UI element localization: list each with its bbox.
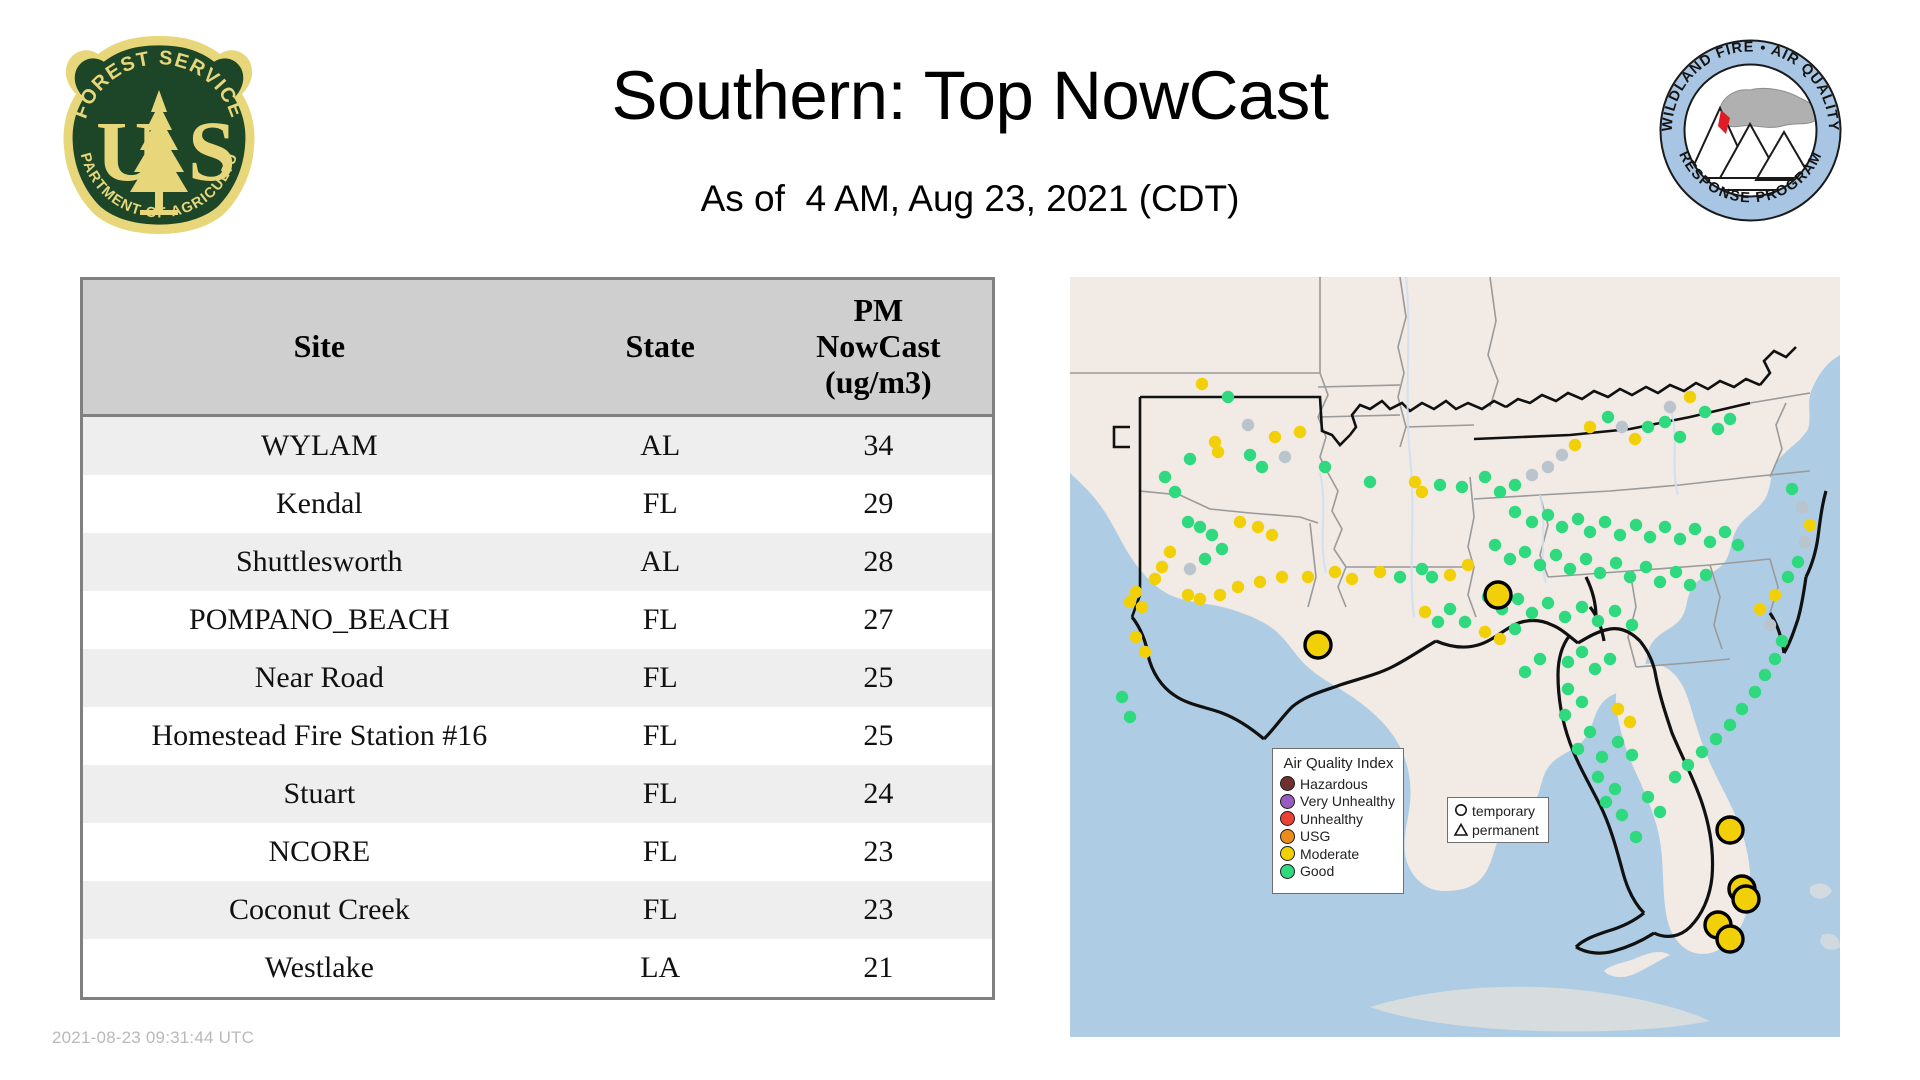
cell-site: Stuart bbox=[83, 765, 556, 823]
monitor-dot[interactable] bbox=[1749, 686, 1761, 698]
monitor-dot[interactable] bbox=[1764, 619, 1776, 631]
cell-pm-nowcast: 21 bbox=[765, 939, 992, 997]
monitor-dot[interactable] bbox=[1124, 711, 1136, 723]
cell-site: Shuttlesworth bbox=[83, 533, 556, 591]
monitor-dot[interactable] bbox=[1269, 431, 1281, 443]
monitor-dot[interactable] bbox=[1364, 476, 1376, 488]
monitor-dot[interactable] bbox=[1584, 421, 1596, 433]
aqi-legend-row: Unhealthy bbox=[1280, 810, 1397, 828]
cell-pm-nowcast: 29 bbox=[765, 475, 992, 533]
monitor-dot[interactable] bbox=[1769, 653, 1781, 665]
cell-state: FL bbox=[556, 591, 765, 649]
cell-pm-nowcast: 25 bbox=[765, 707, 992, 765]
aqi-legend-label: Good bbox=[1300, 864, 1334, 878]
monitor-dot[interactable] bbox=[1232, 581, 1244, 593]
monitor-dot[interactable] bbox=[1276, 571, 1288, 583]
monitor-dot[interactable] bbox=[1184, 563, 1196, 575]
cell-state: FL bbox=[556, 475, 765, 533]
monitor-dot[interactable] bbox=[1682, 759, 1694, 771]
monitor-dot[interactable] bbox=[1266, 529, 1278, 541]
monitor-dot[interactable] bbox=[1519, 546, 1531, 558]
monitor-dot[interactable] bbox=[1674, 431, 1686, 443]
cell-pm-nowcast: 24 bbox=[765, 765, 992, 823]
monitor-dot[interactable] bbox=[1644, 531, 1656, 543]
monitor-dot[interactable] bbox=[1206, 529, 1218, 541]
monitor-dot[interactable] bbox=[1659, 416, 1671, 428]
cell-site: NCORE bbox=[83, 823, 556, 881]
page-title: Southern: Top NowCast bbox=[430, 58, 1510, 134]
highlighted-site-marker[interactable]: Shuttlesworth bbox=[1485, 582, 1511, 608]
monitor-dot[interactable] bbox=[1214, 589, 1226, 601]
monitor-dot[interactable] bbox=[1419, 606, 1431, 618]
monitor-dot[interactable] bbox=[1252, 521, 1264, 533]
monitor-dot[interactable] bbox=[1256, 461, 1268, 473]
monitor-dot[interactable] bbox=[1576, 696, 1588, 708]
monitor-dot[interactable] bbox=[1704, 536, 1716, 548]
cell-pm-nowcast: 28 bbox=[765, 533, 992, 591]
aqi-legend-label: Moderate bbox=[1300, 847, 1359, 861]
table-row: Near RoadFL25 bbox=[83, 649, 992, 707]
monitor-dot[interactable] bbox=[1776, 635, 1788, 647]
cell-state: LA bbox=[556, 939, 765, 997]
monitor-dot[interactable] bbox=[1556, 521, 1568, 533]
nowcast-table: Site State PM NowCast (ug/m3) WYLAMAL34K… bbox=[80, 277, 995, 1000]
aqi-swatch-hazardous bbox=[1280, 776, 1295, 791]
site-type-legend: temporary permanent bbox=[1447, 797, 1549, 843]
monitor-dot[interactable] bbox=[1346, 573, 1358, 585]
aqi-legend: Air Quality Index HazardousVery Unhealth… bbox=[1272, 748, 1404, 894]
monitor-dot[interactable] bbox=[1302, 571, 1314, 583]
monitor-dot[interactable] bbox=[1670, 566, 1682, 578]
monitor-dot[interactable] bbox=[1612, 736, 1624, 748]
monitor-dot[interactable] bbox=[1559, 709, 1571, 721]
circle-outline-icon bbox=[1453, 803, 1469, 819]
monitor-dot[interactable] bbox=[1592, 771, 1604, 783]
monitor-dot[interactable] bbox=[1736, 703, 1748, 715]
monitor-dot[interactable] bbox=[1194, 593, 1206, 605]
aqi-swatch-very-unhealthy bbox=[1280, 794, 1295, 809]
aqi-legend-label: Hazardous bbox=[1300, 777, 1368, 791]
cell-state: FL bbox=[556, 881, 765, 939]
monitor-dot[interactable] bbox=[1534, 559, 1546, 571]
monitor-dot[interactable] bbox=[1642, 791, 1654, 803]
cell-site: Homestead Fire Station #16 bbox=[83, 707, 556, 765]
monitor-dot[interactable] bbox=[1602, 411, 1614, 423]
cell-state: FL bbox=[556, 765, 765, 823]
monitor-dot[interactable] bbox=[1642, 421, 1654, 433]
monitor-dot[interactable] bbox=[1164, 546, 1176, 558]
monitor-dot[interactable] bbox=[1489, 539, 1501, 551]
aqi-map[interactable]: ShuttlesworthWestlakeStuartCoconut Creek… bbox=[1070, 277, 1840, 1037]
aqi-legend-label: USG bbox=[1300, 829, 1330, 843]
monitor-dot[interactable] bbox=[1786, 483, 1798, 495]
monitor-dot[interactable] bbox=[1604, 653, 1616, 665]
monitor-dot[interactable] bbox=[1719, 526, 1731, 538]
monitor-dot[interactable] bbox=[1759, 669, 1771, 681]
highlighted-site-marker[interactable]: Stuart bbox=[1717, 817, 1743, 843]
monitor-dot[interactable] bbox=[1596, 751, 1608, 763]
monitor-dot[interactable] bbox=[1130, 631, 1142, 643]
monitor-dot[interactable] bbox=[1689, 523, 1701, 535]
monitor-dot[interactable] bbox=[1182, 589, 1194, 601]
aqi-legend-row: Good bbox=[1280, 863, 1397, 881]
monitor-dot[interactable] bbox=[1234, 516, 1246, 528]
monitor-dot[interactable] bbox=[1769, 589, 1781, 601]
monitor-dot[interactable] bbox=[1199, 553, 1211, 565]
column-header-state: State bbox=[556, 280, 765, 416]
aqi-legend-label: Very Unhealthy bbox=[1300, 794, 1395, 808]
monitor-dot[interactable] bbox=[1494, 486, 1506, 498]
monitor-dot[interactable] bbox=[1329, 566, 1341, 578]
monitor-dot[interactable] bbox=[1526, 607, 1538, 619]
aqi-legend-row: USG bbox=[1280, 828, 1397, 846]
cell-state: AL bbox=[556, 416, 765, 476]
monitor-dot[interactable] bbox=[1216, 543, 1228, 555]
monitor-dot[interactable] bbox=[1674, 533, 1686, 545]
monitor-dot[interactable] bbox=[1242, 419, 1254, 431]
monitor-dot[interactable] bbox=[1394, 571, 1406, 583]
monitor-dot[interactable] bbox=[1542, 597, 1554, 609]
table-row: Homestead Fire Station #16FL25 bbox=[83, 707, 992, 765]
monitor-dot[interactable] bbox=[1456, 481, 1468, 493]
monitor-dot[interactable] bbox=[1149, 573, 1161, 585]
highlighted-site-marker[interactable]: Homestead Fire Station #16 bbox=[1717, 926, 1743, 952]
monitor-dot[interactable] bbox=[1799, 536, 1811, 548]
monitor-dot[interactable] bbox=[1594, 567, 1606, 579]
monitor-dot[interactable] bbox=[1754, 603, 1766, 615]
monitor-dot[interactable] bbox=[1684, 579, 1696, 591]
column-header-pm-line1: PM bbox=[765, 292, 992, 328]
monitor-dot[interactable] bbox=[1710, 733, 1722, 745]
cell-pm-nowcast: 23 bbox=[765, 823, 992, 881]
monitor-dot[interactable] bbox=[1782, 571, 1794, 583]
monitor-dot[interactable] bbox=[1182, 516, 1194, 528]
monitor-dot[interactable] bbox=[1526, 469, 1538, 481]
monitor-dot[interactable] bbox=[1612, 703, 1624, 715]
monitor-dot[interactable] bbox=[1416, 486, 1428, 498]
monitor-dot[interactable] bbox=[1724, 719, 1736, 731]
monitor-dot[interactable] bbox=[1509, 479, 1521, 491]
monitor-dot[interactable] bbox=[1374, 566, 1386, 578]
monitor-dot[interactable] bbox=[1416, 563, 1428, 575]
monitor-dot[interactable] bbox=[1519, 666, 1531, 678]
footer-timestamp: 2021-08-23 09:31:44 UTC bbox=[52, 1028, 254, 1048]
table-row: POMPANO_BEACHFL27 bbox=[83, 591, 992, 649]
monitor-dot[interactable] bbox=[1592, 615, 1604, 627]
triangle-outline-icon bbox=[1453, 822, 1469, 838]
monitor-dot[interactable] bbox=[1712, 423, 1724, 435]
monitor-dot[interactable] bbox=[1669, 771, 1681, 783]
monitor-dot[interactable] bbox=[1616, 809, 1628, 821]
monitor-dot[interactable] bbox=[1796, 501, 1808, 513]
cell-site: Near Road bbox=[83, 649, 556, 707]
monitor-dot[interactable] bbox=[1630, 831, 1642, 843]
table-row: WYLAMAL34 bbox=[83, 416, 992, 476]
legend-row-temporary: temporary bbox=[1453, 801, 1544, 820]
monitor-dot[interactable] bbox=[1509, 623, 1521, 635]
column-header-pm-line3: (ug/m3) bbox=[765, 364, 992, 400]
aqi-legend-row: Hazardous bbox=[1280, 775, 1397, 793]
monitor-dot[interactable] bbox=[1569, 439, 1581, 451]
legend-row-permanent: permanent bbox=[1453, 820, 1544, 839]
legend-label-temporary: temporary bbox=[1472, 804, 1535, 818]
monitor-dot[interactable] bbox=[1610, 557, 1622, 569]
aqi-legend-row: Very Unhealthy bbox=[1280, 793, 1397, 811]
highlighted-site-marker[interactable]: Westlake bbox=[1305, 632, 1331, 658]
monitor-dot[interactable] bbox=[1616, 421, 1628, 433]
monitor-dot[interactable] bbox=[1212, 446, 1224, 458]
monitor-dot[interactable] bbox=[1139, 646, 1151, 658]
wfaqrp-logo: WILDLAND FIRE • AIR QUALITY RESPONSE PRO… bbox=[1658, 38, 1843, 223]
monitor-dot[interactable] bbox=[1444, 569, 1456, 581]
monitor-dot[interactable] bbox=[1254, 576, 1266, 588]
monitor-dot[interactable] bbox=[1494, 633, 1506, 645]
cell-site: WYLAM bbox=[83, 416, 556, 476]
monitor-dot[interactable] bbox=[1196, 378, 1208, 390]
cell-site: Westlake bbox=[83, 939, 556, 997]
monitor-dot[interactable] bbox=[1562, 656, 1574, 668]
monitor-dot[interactable] bbox=[1194, 521, 1206, 533]
cell-pm-nowcast: 23 bbox=[765, 881, 992, 939]
monitor-dot[interactable] bbox=[1614, 529, 1626, 541]
monitor-dot[interactable] bbox=[1804, 519, 1816, 531]
monitor-dot[interactable] bbox=[1550, 549, 1562, 561]
table-row: ShuttlesworthAL28 bbox=[83, 533, 992, 591]
monitor-dot[interactable] bbox=[1319, 461, 1331, 473]
monitor-dot[interactable] bbox=[1599, 516, 1611, 528]
monitor-dot[interactable] bbox=[1696, 746, 1708, 758]
monitor-dot[interactable] bbox=[1600, 796, 1612, 808]
aqi-swatch-moderate bbox=[1280, 846, 1295, 861]
monitor-dot[interactable] bbox=[1580, 553, 1592, 565]
monitor-dot[interactable] bbox=[1724, 413, 1736, 425]
page-subtitle: As of 4 AM, Aug 23, 2021 (CDT) bbox=[430, 178, 1510, 220]
cell-pm-nowcast: 34 bbox=[765, 416, 992, 476]
table-row: KendalFL29 bbox=[83, 475, 992, 533]
monitor-dot[interactable] bbox=[1659, 521, 1671, 533]
monitor-dot[interactable] bbox=[1504, 553, 1516, 565]
monitor-dot[interactable] bbox=[1479, 471, 1491, 483]
monitor-dot[interactable] bbox=[1159, 471, 1171, 483]
monitor-dot[interactable] bbox=[1116, 691, 1128, 703]
aqi-legend-row: Moderate bbox=[1280, 845, 1397, 863]
column-header-pm-line2: NowCast bbox=[765, 328, 992, 364]
monitor-dot[interactable] bbox=[1572, 513, 1584, 525]
monitor-dot[interactable] bbox=[1124, 596, 1136, 608]
aqi-legend-title: Air Quality Index bbox=[1280, 755, 1397, 772]
table-row: StuartFL24 bbox=[83, 765, 992, 823]
monitor-dot[interactable] bbox=[1654, 576, 1666, 588]
aqi-legend-label: Unhealthy bbox=[1300, 812, 1363, 826]
cell-site: POMPANO_BEACH bbox=[83, 591, 556, 649]
monitor-dot[interactable] bbox=[1626, 749, 1638, 761]
usfs-shield-logo: FOREST SERVICE DEPARTMENT OF AGRICULTURE… bbox=[52, 32, 267, 237]
monitor-dot[interactable] bbox=[1654, 806, 1666, 818]
cell-pm-nowcast: 27 bbox=[765, 591, 992, 649]
monitor-dot[interactable] bbox=[1559, 611, 1571, 623]
cell-state: AL bbox=[556, 533, 765, 591]
monitor-dot[interactable] bbox=[1792, 556, 1804, 568]
monitor-dot[interactable] bbox=[1564, 563, 1576, 575]
monitor-dot[interactable] bbox=[1409, 476, 1421, 488]
column-header-site: Site bbox=[83, 280, 556, 416]
monitor-dot[interactable] bbox=[1640, 561, 1652, 573]
cell-state: FL bbox=[556, 823, 765, 881]
cell-state: FL bbox=[556, 707, 765, 765]
monitor-dot[interactable] bbox=[1462, 559, 1474, 571]
monitor-dot[interactable] bbox=[1589, 663, 1601, 675]
table-header-row: Site State PM NowCast (ug/m3) bbox=[83, 280, 992, 416]
monitor-dot[interactable] bbox=[1576, 601, 1588, 613]
monitor-dot[interactable] bbox=[1576, 646, 1588, 658]
cell-site: Coconut Creek bbox=[83, 881, 556, 939]
monitor-dot[interactable] bbox=[1279, 451, 1291, 463]
monitor-dot[interactable] bbox=[1732, 539, 1744, 551]
monitor-dot[interactable] bbox=[1136, 601, 1148, 613]
monitor-dot[interactable] bbox=[1624, 716, 1636, 728]
monitor-dot[interactable] bbox=[1222, 391, 1234, 403]
monitor-dot[interactable] bbox=[1444, 603, 1456, 615]
monitor-dot[interactable] bbox=[1512, 593, 1524, 605]
monitor-dot[interactable] bbox=[1664, 401, 1676, 413]
monitor-dot[interactable] bbox=[1629, 433, 1641, 445]
monitor-dot[interactable] bbox=[1684, 391, 1696, 403]
monitor-dot[interactable] bbox=[1584, 726, 1596, 738]
monitor-dot[interactable] bbox=[1156, 561, 1168, 573]
monitor-dot[interactable] bbox=[1556, 449, 1568, 461]
monitor-dot[interactable] bbox=[1184, 453, 1196, 465]
monitor-dot[interactable] bbox=[1700, 569, 1712, 581]
monitor-dot[interactable] bbox=[1459, 616, 1471, 628]
table-row: NCOREFL23 bbox=[83, 823, 992, 881]
monitor-dot[interactable] bbox=[1562, 683, 1574, 695]
column-header-pm-nowcast: PM NowCast (ug/m3) bbox=[765, 280, 992, 416]
usfs-letter-s: S bbox=[188, 103, 236, 199]
aqi-swatch-good bbox=[1280, 864, 1295, 879]
monitor-dot[interactable] bbox=[1572, 743, 1584, 755]
monitor-dot[interactable] bbox=[1426, 571, 1438, 583]
monitor-dot[interactable] bbox=[1542, 461, 1554, 473]
monitor-dot[interactable] bbox=[1294, 426, 1306, 438]
legend-label-permanent: permanent bbox=[1472, 823, 1539, 837]
table-row: Coconut CreekFL23 bbox=[83, 881, 992, 939]
monitor-dot[interactable] bbox=[1630, 519, 1642, 531]
monitor-dot[interactable] bbox=[1542, 509, 1554, 521]
monitor-dot[interactable] bbox=[1479, 626, 1491, 638]
monitor-dot[interactable] bbox=[1609, 783, 1621, 795]
monitor-dot[interactable] bbox=[1609, 605, 1621, 617]
cell-state: FL bbox=[556, 649, 765, 707]
monitor-dot[interactable] bbox=[1584, 526, 1596, 538]
highlighted-site-marker[interactable]: Pompano Beach bbox=[1733, 886, 1759, 912]
aqi-swatch-usg bbox=[1280, 829, 1295, 844]
table-row: WestlakeLA21 bbox=[83, 939, 992, 997]
cell-pm-nowcast: 25 bbox=[765, 649, 992, 707]
monitor-dot[interactable] bbox=[1526, 516, 1538, 528]
monitor-dot[interactable] bbox=[1626, 619, 1638, 631]
aqi-swatch-unhealthy bbox=[1280, 811, 1295, 826]
monitor-dot[interactable] bbox=[1434, 479, 1446, 491]
monitor-dot[interactable] bbox=[1509, 506, 1521, 518]
monitor-dot[interactable] bbox=[1244, 449, 1256, 461]
monitor-dot[interactable] bbox=[1169, 486, 1181, 498]
monitor-dot[interactable] bbox=[1432, 616, 1444, 628]
monitor-dot[interactable] bbox=[1699, 406, 1711, 418]
monitor-dot[interactable] bbox=[1534, 653, 1546, 665]
cell-site: Kendal bbox=[83, 475, 556, 533]
monitor-dot[interactable] bbox=[1624, 571, 1636, 583]
